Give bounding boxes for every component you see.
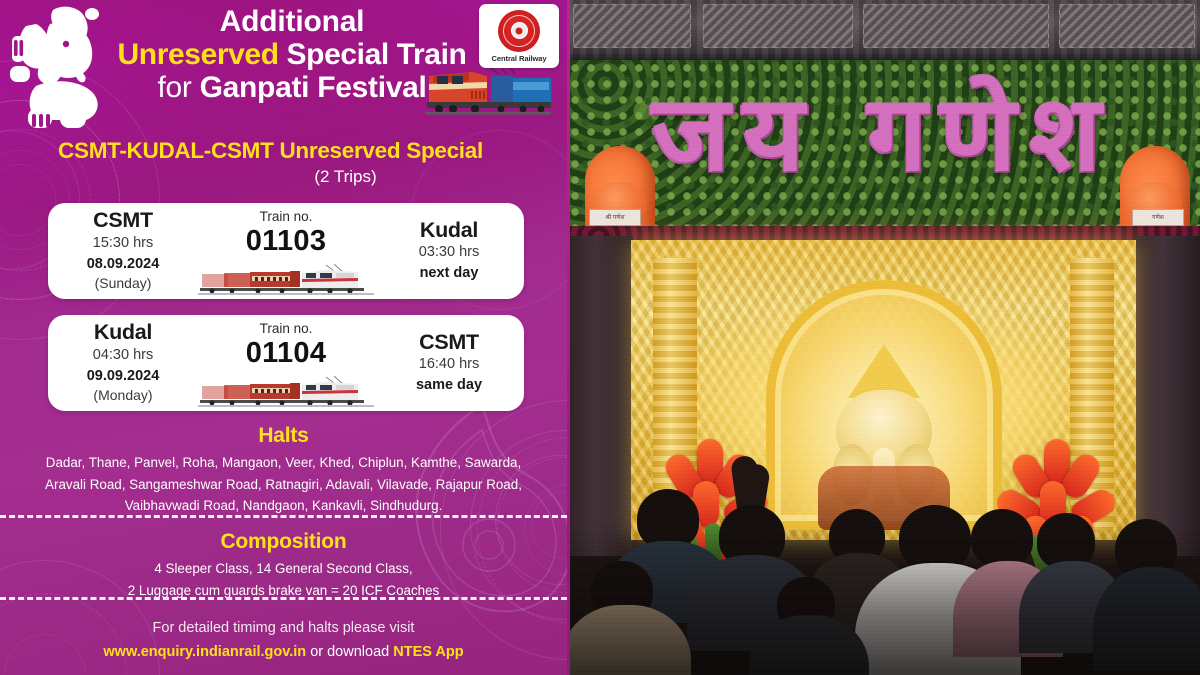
poster-info-panel: Additional Unreserved Special Train for … bbox=[0, 0, 567, 675]
destination-block: Kudal 03:30 hrs next day bbox=[374, 218, 524, 285]
origin-day: (Sunday) bbox=[95, 274, 152, 294]
headline-line-3: for Ganpati Festival bbox=[112, 71, 472, 105]
destination-time: 16:40 hrs bbox=[419, 354, 479, 375]
halts-line-3: Vaibhavwadi Road, Nandgaon, Kankavli, Si… bbox=[22, 495, 545, 517]
origin-block: Kudal 04:30 hrs 09.09.2024 (Monday) bbox=[48, 320, 198, 406]
train-number-label: Train no. bbox=[260, 321, 313, 337]
central-railway-logo: Central Railway bbox=[479, 4, 559, 68]
composition-line-1: 4 Sleeper Class, 14 General Second Class… bbox=[0, 558, 567, 580]
poster-root: Additional Unreserved Special Train for … bbox=[0, 0, 1200, 675]
composition-line-2: 2 Luggage cum guards brake van = 20 ICF … bbox=[0, 580, 567, 602]
destination-time: 03:30 hrs bbox=[419, 242, 479, 263]
headline-line-2-rest: Special Train bbox=[279, 38, 467, 71]
destination-relative-day: next day bbox=[420, 263, 479, 284]
headline-line-3-bold: Ganpati Festival bbox=[200, 71, 427, 104]
indian-railways-emblem-icon bbox=[498, 10, 540, 52]
origin-day: (Monday) bbox=[93, 386, 152, 406]
origin-block: CSMT 15:30 hrs 08.09.2024 (Sunday) bbox=[48, 208, 198, 294]
destination-station: CSMT bbox=[419, 330, 479, 355]
train-illustration-icon bbox=[198, 261, 374, 295]
schedule-card[interactable]: CSMT 15:30 hrs 08.09.2024 (Sunday) Train… bbox=[48, 203, 524, 299]
train-illustration-icon bbox=[198, 373, 374, 407]
poster-headline: Additional Unreserved Special Train for … bbox=[112, 6, 472, 106]
flower-garland-banner: जय गणेश श्री गणेश गणेश bbox=[567, 60, 1200, 228]
headline-highlight: Unreserved bbox=[118, 38, 279, 71]
photo-edge-seam bbox=[567, 0, 570, 675]
ganesha-silhouette-icon bbox=[6, 4, 114, 132]
devotee-crowd bbox=[567, 415, 1200, 675]
origin-time: 04:30 hrs bbox=[93, 345, 153, 366]
train-number-value: 01104 bbox=[246, 337, 327, 369]
composition-heading: Composition bbox=[0, 530, 567, 554]
origin-time: 15:30 hrs bbox=[93, 233, 153, 254]
emblem-wheel-icon bbox=[511, 22, 528, 39]
train-number-block: Train no. 01103 bbox=[198, 203, 374, 299]
origin-date: 09.09.2024 bbox=[87, 366, 160, 386]
route-trip-count: (2 Trips) bbox=[0, 167, 541, 187]
origin-station: CSMT bbox=[93, 208, 153, 233]
carved-stone-lintel bbox=[567, 0, 1200, 66]
flower-banner-text: जय गणेश bbox=[567, 80, 1200, 186]
halts-line-1: Dadar, Thane, Panvel, Roha, Mangaon, Vee… bbox=[22, 452, 545, 474]
schedule-card[interactable]: Kudal 04:30 hrs 09.09.2024 (Monday) Trai… bbox=[48, 315, 524, 411]
enquiry-website-link[interactable]: www.enquiry.indianrail.gov.in bbox=[103, 644, 306, 660]
route-title: CSMT-KUDAL-CSMT Unreserved Special bbox=[0, 138, 541, 164]
central-railway-logo-label: Central Railway bbox=[491, 54, 546, 63]
route-subtitle: CSMT-KUDAL-CSMT Unreserved Special (2 Tr… bbox=[0, 138, 541, 187]
footer-middle-text: or download bbox=[306, 644, 393, 660]
headline-line-1: Additional bbox=[112, 6, 472, 38]
footer-links: www.enquiry.indianrail.gov.in or downloa… bbox=[0, 640, 567, 665]
headline-line-2: Unreserved Special Train bbox=[112, 38, 472, 72]
composition-section: Composition 4 Sleeper Class, 14 General … bbox=[0, 530, 567, 601]
halts-list: Dadar, Thane, Panvel, Roha, Mangaon, Vee… bbox=[0, 452, 567, 517]
train-number-label: Train no. bbox=[260, 209, 313, 225]
composition-details: 4 Sleeper Class, 14 General Second Class… bbox=[0, 558, 567, 601]
halts-line-2: Aravali Road, Sangameshwar Road, Ratnagi… bbox=[22, 474, 545, 496]
temple-photograph: जय गणेश श्री गणेश गणेश bbox=[567, 0, 1200, 675]
idol-plaque-label: श्री गणेश bbox=[589, 209, 641, 226]
footer-section: For detailed timimg and halts please vis… bbox=[0, 618, 567, 664]
destination-block: CSMT 16:40 hrs same day bbox=[374, 330, 524, 397]
destination-station: Kudal bbox=[420, 218, 478, 243]
footer-note: For detailed timimg and halts please vis… bbox=[0, 618, 567, 640]
ntes-app-link[interactable]: NTES App bbox=[393, 644, 463, 660]
halts-heading: Halts bbox=[0, 424, 567, 448]
origin-date: 08.09.2024 bbox=[87, 254, 160, 274]
headline-line-3-prefix: for bbox=[157, 71, 199, 104]
halts-section: Halts Dadar, Thane, Panvel, Roha, Mangao… bbox=[0, 424, 567, 517]
origin-station: Kudal bbox=[94, 320, 152, 345]
destination-relative-day: same day bbox=[416, 375, 482, 396]
train-number-block: Train no. 01104 bbox=[198, 315, 374, 411]
idol-plaque-label: गणेश bbox=[1132, 209, 1184, 226]
train-number-value: 01103 bbox=[246, 225, 327, 257]
crowd-shadow-overlay bbox=[567, 525, 1200, 675]
